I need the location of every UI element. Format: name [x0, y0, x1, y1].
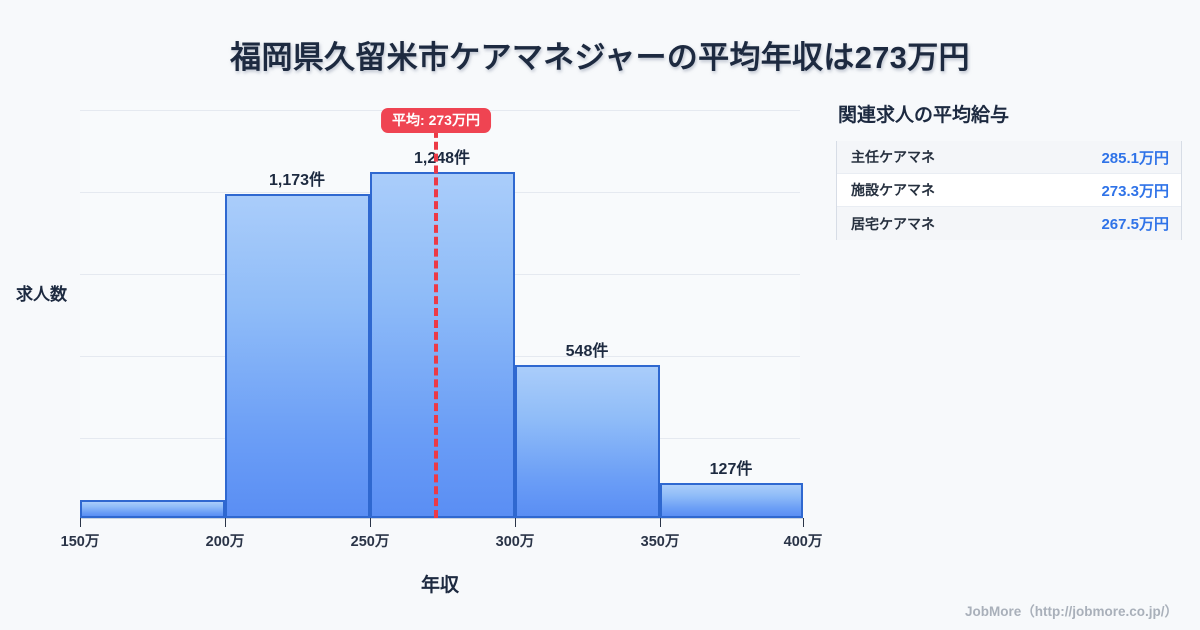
average-line: [434, 118, 438, 518]
bar-label-300-350: 548件: [566, 337, 609, 361]
bar-150-200[interactable]: [80, 500, 225, 518]
page-title: 福岡県久留米市ケアマネジャーの平均年収は273万円: [0, 32, 1200, 77]
plot-region: 1,173件 1,248件 548件 127件 平均: 273万円 150万 2…: [80, 100, 803, 598]
table-row[interactable]: 居宅ケアマネ 267.5万円: [837, 207, 1181, 240]
bar-label-200-250: 1,173件: [269, 166, 325, 190]
x-tick: [803, 518, 804, 527]
x-tick-label-200: 200万: [206, 530, 245, 551]
y-axis-title: 求人数: [16, 280, 67, 305]
bar-label-350-400: 127件: [710, 455, 753, 479]
row-label: 主任ケアマネ: [851, 147, 935, 167]
x-tick: [225, 518, 226, 527]
related-salary-table: 主任ケアマネ 285.1万円 施設ケアマネ 273.3万円 居宅ケアマネ 267…: [836, 141, 1182, 240]
chart-area: 1,173件 1,248件 548件 127件 平均: 273万円 150万 2…: [0, 90, 830, 560]
x-tick-label-150: 150万: [61, 530, 100, 551]
bar-200-250[interactable]: [225, 194, 370, 518]
x-tick: [80, 518, 81, 527]
bar-label-250-300: 1,248件: [414, 144, 470, 168]
x-tick: [515, 518, 516, 527]
x-tick-label-250: 250万: [351, 530, 390, 551]
row-label: 施設ケアマネ: [851, 180, 935, 200]
bar-350-400[interactable]: [660, 483, 803, 518]
x-tick: [660, 518, 661, 527]
bar-300-350[interactable]: [515, 365, 660, 518]
table-row[interactable]: 主任ケアマネ 285.1万円: [837, 141, 1181, 174]
watermark-footer: JobMore（http://jobmore.co.jp/）: [965, 600, 1178, 620]
row-value: 267.5万円: [1101, 213, 1169, 234]
related-salary-panel: 関連求人の平均給与 主任ケアマネ 285.1万円 施設ケアマネ 273.3万円 …: [836, 100, 1182, 240]
x-axis-line: [80, 518, 803, 519]
bar-250-300[interactable]: [370, 172, 515, 518]
x-tick-label-400: 400万: [784, 530, 823, 551]
table-row[interactable]: 施設ケアマネ 273.3万円: [837, 174, 1181, 207]
average-badge: 平均: 273万円: [381, 108, 491, 133]
row-value: 285.1万円: [1101, 147, 1169, 168]
x-tick-label-300: 300万: [496, 530, 535, 551]
related-salary-title: 関連求人の平均給与: [838, 100, 1182, 127]
x-axis-title: 年収: [0, 570, 880, 597]
x-tick-label-350: 350万: [641, 530, 680, 551]
row-label: 居宅ケアマネ: [851, 214, 935, 234]
x-tick: [370, 518, 371, 527]
row-value: 273.3万円: [1101, 180, 1169, 201]
